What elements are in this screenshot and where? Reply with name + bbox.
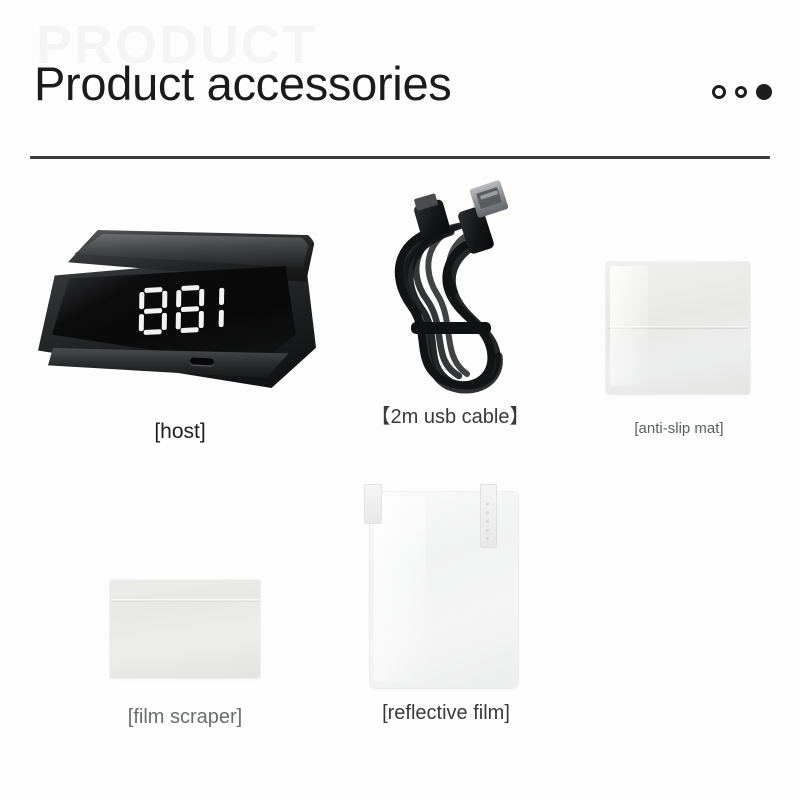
host-body — [38, 230, 316, 388]
digit-one — [138, 287, 169, 337]
anti-slip-mat-image — [588, 258, 770, 402]
host-label: [host] — [30, 420, 330, 444]
film-scraper-card — [110, 580, 260, 678]
reflective-film-tab-dots — [485, 500, 490, 540]
reflective-film-tab-left — [364, 484, 382, 524]
film-scraper-band — [111, 599, 259, 602]
accessory-item-host: [host] — [30, 212, 330, 402]
reflective-film-label: [reflective film] — [352, 702, 540, 725]
host-usb-port — [190, 357, 214, 365]
host-seven-segment-display — [138, 284, 227, 337]
accessory-item-usb-cable: 【2m usb cable】 — [355, 180, 545, 402]
reflective-film-sheen — [374, 496, 426, 682]
usb-cable-image — [355, 180, 545, 402]
dot-outline-large-icon — [712, 85, 726, 99]
anti-slip-mat-label: [anti-slip mat] — [588, 420, 770, 437]
accessory-item-reflective-film: [reflective film] — [352, 478, 540, 698]
usb-cable-svg — [355, 180, 545, 402]
anti-slip-mat-sheen — [610, 266, 648, 386]
dot-outline-small-icon — [735, 86, 747, 98]
accessory-item-anti-slip-mat: [anti-slip mat] — [588, 258, 770, 402]
host-device-image — [30, 212, 330, 402]
page-title: Product accessories — [34, 56, 451, 111]
product-accessories-page: PRODUCT Product accessories — [0, 0, 800, 800]
dot-filled-icon — [756, 84, 772, 100]
accessory-item-film-scraper: [film scraper] — [95, 572, 275, 688]
header-divider — [30, 156, 770, 159]
digit-two — [175, 285, 206, 335]
usb-cable-label: 【2m usb cable】 — [355, 400, 545, 429]
reflective-film-image — [352, 478, 540, 698]
film-scraper-label: [film scraper] — [95, 706, 275, 729]
decorative-dots — [712, 84, 772, 100]
film-scraper-image — [95, 572, 275, 688]
digit-three-partial — [212, 284, 227, 333]
